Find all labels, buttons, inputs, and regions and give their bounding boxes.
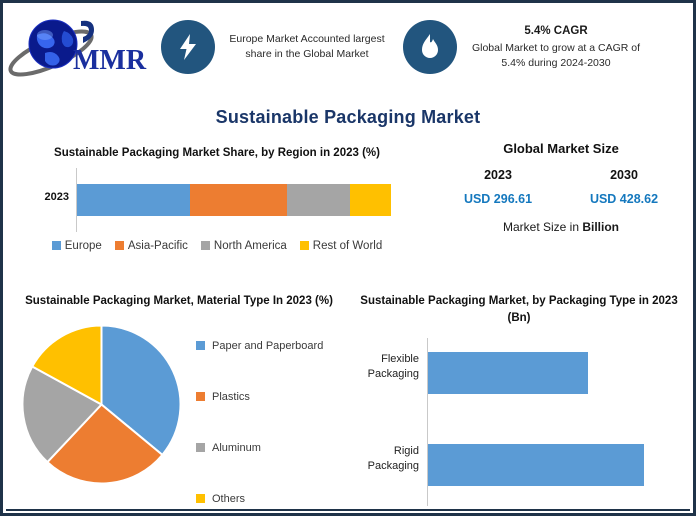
pie-legend-item-paper: Paper and Paperboard — [196, 328, 346, 364]
region-segment-asia-pacific — [190, 184, 287, 216]
region-segment-europe — [77, 184, 190, 216]
pie-legend-item-plastics: Plastics — [196, 379, 346, 415]
pie-legend-swatch-others — [196, 494, 205, 503]
chart-material-type: Sustainable Packaging Market, Material T… — [11, 293, 347, 511]
pie-legend-label-aluminum: Aluminum — [212, 442, 261, 454]
legend-item-asia-pacific: Asia-Pacific — [115, 240, 188, 252]
legend-label-europe: Europe — [65, 240, 102, 252]
pie-chart-svg — [19, 322, 184, 487]
pie-legend-label-others: Others — [212, 493, 245, 505]
cagr-description: Global Market to grow at a CAGR of 5.4% … — [472, 42, 640, 69]
market-size-footer: Market Size in Billion — [435, 220, 687, 234]
legend-label-north-america: North America — [214, 240, 287, 252]
header-block-europe: Europe Market Accounted largest share in… — [161, 20, 387, 74]
region-segment-north-america — [287, 184, 350, 216]
pack-label-rigid: Rigid Packaging — [351, 444, 419, 473]
market-size-year-2023: 2023 — [443, 168, 553, 182]
pack-bar-rigid — [428, 444, 644, 486]
market-size-footer-prefix: Market Size in — [503, 220, 582, 234]
header-text-europe: Europe Market Accounted largest share in… — [227, 32, 387, 62]
chart-title-region: Sustainable Packaging Market Share, by R… — [11, 145, 423, 162]
legend-swatch-north-america — [201, 241, 210, 250]
pie-legend-label-plastics: Plastics — [212, 391, 250, 403]
chart-packaging-type: Sustainable Packaging Market, by Packagi… — [351, 293, 687, 511]
legend-swatch-asia-pacific — [115, 241, 124, 250]
market-size-year-2030: 2030 — [569, 168, 679, 182]
legend-item-rest-of-world: Rest of World — [300, 240, 382, 252]
legend-item-north-america: North America — [201, 240, 287, 252]
pack-bar-flexible — [428, 352, 588, 394]
logo-wordmark: MMR — [73, 45, 147, 76]
pie-legend-item-aluminum: Aluminum — [196, 430, 346, 466]
cagr-value: 5.4% CAGR — [467, 23, 645, 40]
flame-icon — [403, 20, 457, 74]
lightning-bolt-icon — [161, 20, 215, 74]
pie-area: Paper and Paperboard Plastics Aluminum O… — [11, 320, 347, 490]
market-size-years: 2023 2030 — [435, 168, 687, 182]
pie-legend: Paper and Paperboard Plastics Aluminum O… — [196, 328, 346, 516]
legend-item-europe: Europe — [52, 240, 102, 252]
market-size-title: Global Market Size — [435, 141, 687, 156]
region-category-label: 2023 — [21, 191, 69, 203]
pie-legend-label-paper: Paper and Paperboard — [212, 340, 323, 352]
pie-legend-swatch-aluminum — [196, 443, 205, 452]
market-size-value-2023: USD 296.61 — [443, 192, 553, 206]
region-plot-area: 2023 — [11, 168, 423, 232]
chart-region-share: Sustainable Packaging Market Share, by R… — [11, 145, 423, 271]
page-title: Sustainable Packaging Market — [3, 107, 693, 128]
bottom-divider — [6, 509, 690, 511]
region-stacked-bar — [77, 184, 391, 216]
legend-label-rest-of-world: Rest of World — [313, 240, 382, 252]
market-size-value-2030: USD 428.62 — [569, 192, 679, 206]
pack-label-flexible: Flexible Packaging — [351, 352, 419, 381]
pie-legend-swatch-paper — [196, 341, 205, 350]
legend-swatch-rest-of-world — [300, 241, 309, 250]
region-segment-rest-of-world — [350, 184, 391, 216]
chart-title-packaging-type: Sustainable Packaging Market, by Packagi… — [351, 293, 687, 326]
pack-plot-area: Flexible Packaging Rigid Packaging — [351, 338, 687, 508]
pie-legend-swatch-plastics — [196, 392, 205, 401]
header-text-cagr: 5.4% CAGR Global Market to grow at a CAG… — [467, 23, 645, 71]
mmr-logo: MMR — [3, 7, 151, 87]
globe-icon: MMR — [7, 15, 147, 79]
global-market-size-panel: Global Market Size 2023 2030 USD 296.61 … — [435, 141, 687, 234]
header-bar: MMR Europe Market Accounted largest shar… — [3, 3, 693, 91]
market-size-footer-unit: Billion — [582, 220, 619, 234]
chart-title-material-type: Sustainable Packaging Market, Material T… — [11, 293, 347, 310]
header-block-cagr: 5.4% CAGR Global Market to grow at a CAG… — [403, 20, 645, 74]
infographic-root: MMR Europe Market Accounted largest shar… — [0, 0, 696, 516]
legend-label-asia-pacific: Asia-Pacific — [128, 240, 188, 252]
market-size-values: USD 296.61 USD 428.62 — [435, 192, 687, 206]
region-legend: Europe Asia-Pacific North America Rest o… — [11, 240, 423, 252]
legend-swatch-europe — [52, 241, 61, 250]
